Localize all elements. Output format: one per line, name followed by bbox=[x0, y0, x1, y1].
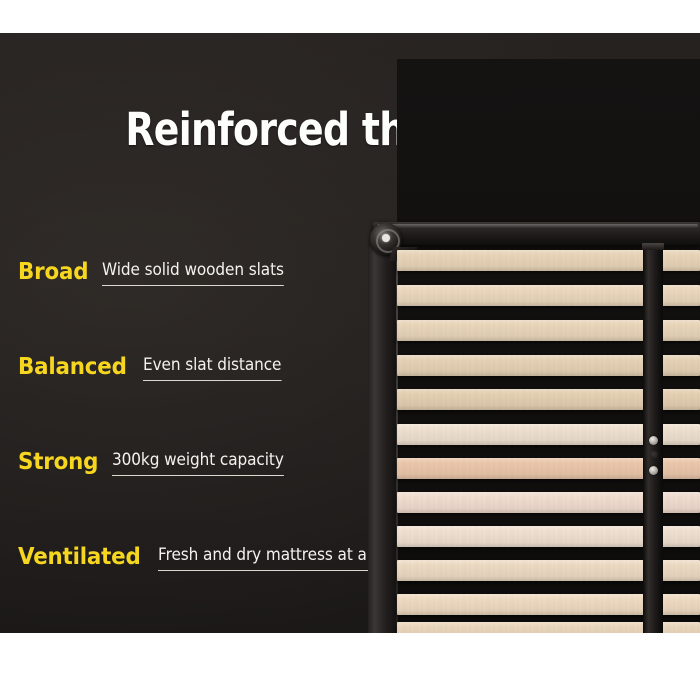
center-rail-screw bbox=[649, 436, 658, 445]
slat-wood-grain bbox=[661, 458, 700, 479]
wooden-slat bbox=[661, 389, 700, 410]
wooden-slat bbox=[397, 594, 645, 615]
wooden-slat bbox=[397, 320, 645, 341]
feature-item-balanced: Balanced Even slat distance bbox=[18, 356, 297, 379]
slat-wood-grain bbox=[397, 320, 645, 341]
slat-wood-grain bbox=[661, 250, 700, 271]
feature-item-strong: Strong 300kg weight capacity bbox=[18, 451, 303, 474]
slat-wood-grain bbox=[397, 250, 645, 271]
wooden-slat bbox=[397, 622, 645, 633]
slat-wood-grain bbox=[397, 560, 645, 581]
bottom-white-margin bbox=[0, 633, 700, 700]
wooden-slat bbox=[661, 526, 700, 547]
slat-wood-grain bbox=[661, 526, 700, 547]
feature-description: Wide solid wooden slats bbox=[102, 262, 284, 286]
center-rail-boss bbox=[650, 451, 658, 459]
slat-wood-grain bbox=[661, 285, 700, 306]
banner-stage: Reinforced thick slats Broad Wide solid … bbox=[0, 0, 700, 700]
slat-wood-grain bbox=[661, 424, 700, 445]
center-support-rail-cap bbox=[642, 243, 664, 250]
wooden-slat bbox=[397, 560, 645, 581]
slat-wood-grain bbox=[661, 492, 700, 513]
wooden-slat bbox=[661, 594, 700, 615]
wooden-slat bbox=[661, 320, 700, 341]
feature-term: Ventilated bbox=[18, 546, 141, 569]
wooden-slat bbox=[397, 492, 645, 513]
dark-banner-panel: Reinforced thick slats Broad Wide solid … bbox=[0, 33, 700, 633]
wooden-slat bbox=[661, 285, 700, 306]
top-white-margin bbox=[0, 0, 700, 33]
slat-wood-grain bbox=[661, 560, 700, 581]
wooden-slat bbox=[661, 622, 700, 633]
slat-wood-grain bbox=[397, 594, 645, 615]
wooden-slat bbox=[661, 250, 700, 271]
wooden-slat bbox=[661, 492, 700, 513]
wooden-slat bbox=[397, 250, 645, 271]
feature-term: Balanced bbox=[18, 356, 127, 379]
bed-frame-product-photo bbox=[355, 33, 700, 633]
wooden-slat bbox=[661, 355, 700, 376]
slat-wood-grain bbox=[661, 622, 700, 633]
slat-wood-grain bbox=[661, 355, 700, 376]
left-side-rail bbox=[368, 240, 398, 633]
feature-description: Even slat distance bbox=[143, 357, 281, 381]
feature-term: Broad bbox=[18, 261, 88, 284]
wooden-slat bbox=[397, 355, 645, 376]
slat-wood-grain bbox=[397, 355, 645, 376]
wooden-slat bbox=[397, 389, 645, 410]
center-rail-screw bbox=[649, 466, 658, 475]
wooden-slat bbox=[661, 424, 700, 445]
slat-wood-grain bbox=[397, 424, 645, 445]
feature-item-broad: Broad Wide solid wooden slats bbox=[18, 261, 304, 284]
slat-wood-grain bbox=[661, 320, 700, 341]
slat-wood-grain bbox=[397, 526, 645, 547]
slat-wood-grain bbox=[397, 458, 645, 479]
slat-wood-grain bbox=[397, 622, 645, 633]
slat-wood-grain bbox=[397, 492, 645, 513]
feature-term: Strong bbox=[18, 451, 98, 474]
wooden-slat bbox=[397, 424, 645, 445]
wooden-slat bbox=[661, 560, 700, 581]
wooden-slat bbox=[397, 526, 645, 547]
slat-wood-grain bbox=[661, 389, 700, 410]
slat-wood-grain bbox=[397, 389, 645, 410]
slat-wood-grain bbox=[397, 285, 645, 306]
top-rail-highlight bbox=[377, 224, 698, 228]
wooden-slat bbox=[397, 458, 645, 479]
wooden-slat bbox=[661, 458, 700, 479]
slat-wood-grain bbox=[661, 594, 700, 615]
corner-bolt-center-dot bbox=[382, 234, 390, 242]
wooden-slat bbox=[397, 285, 645, 306]
feature-description: 300kg weight capacity bbox=[112, 452, 284, 476]
